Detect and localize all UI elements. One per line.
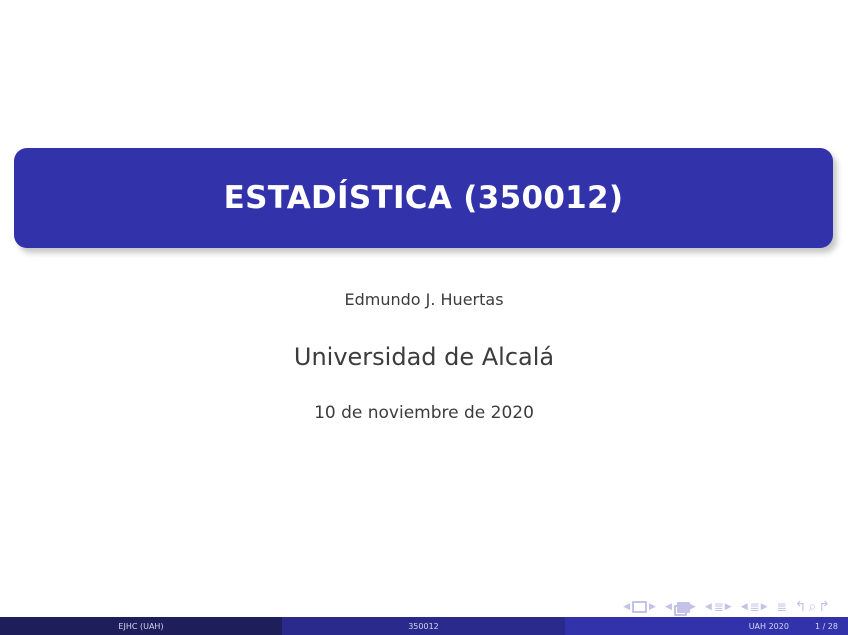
presentation-title: ESTADÍSTICA (350012) [224, 180, 624, 216]
beamer-navigation-symbols[interactable]: ◀ ▶ ◀ ▶ ◀ ≣ ▶ ◀ ≣ ▶ ≣ ↰ ⌕ ↱ [623, 600, 830, 614]
presentation-date: 10 de noviembre de 2020 [0, 371, 848, 423]
subsection-lines-icon[interactable]: ≣ [714, 601, 723, 613]
footer-author-label: EJHC (UAH) [118, 622, 163, 631]
subsection-navigation-group[interactable]: ◀ ≣ ▶ [705, 601, 732, 613]
previous-subsection-arrow-icon[interactable]: ◀ [705, 603, 712, 612]
author-name: Edmundo J. Huertas [0, 278, 848, 309]
history-navigation-group[interactable]: ↰ ⌕ ↱ [795, 600, 830, 614]
forward-icon[interactable]: ↱ [818, 600, 830, 614]
title-block: ESTADÍSTICA (350012) [14, 148, 833, 248]
frame-icon[interactable] [632, 601, 647, 613]
previous-section-arrow-icon[interactable]: ◀ [741, 603, 748, 612]
footer-title-segment: 350012 [282, 617, 565, 635]
search-icon[interactable]: ⌕ [808, 600, 816, 614]
next-frame-arrow-icon[interactable]: ▶ [689, 603, 696, 612]
footer-title-label: 350012 [408, 622, 439, 631]
institute-name: Universidad de Alcalá [0, 309, 848, 371]
title-block-body: ESTADÍSTICA (350012) [14, 148, 833, 248]
footer-institute-segment: UAH 2020 1 / 28 [565, 617, 848, 635]
next-slide-arrow-icon[interactable]: ▶ [649, 603, 656, 612]
next-section-arrow-icon[interactable]: ▶ [761, 603, 768, 612]
section-navigation-group[interactable]: ◀ ≣ ▶ [741, 601, 768, 613]
previous-frame-arrow-icon[interactable]: ◀ [665, 603, 672, 612]
slide-footer: EJHC (UAH) 350012 UAH 2020 1 / 28 [0, 617, 848, 635]
footer-author-segment: EJHC (UAH) [0, 617, 282, 635]
next-subsection-arrow-icon[interactable]: ▶ [725, 603, 732, 612]
slide-navigation-group[interactable]: ◀ ▶ [623, 601, 656, 613]
title-metadata: Edmundo J. Huertas Universidad de Alcalá… [0, 278, 848, 423]
stacked-frames-icon[interactable] [674, 602, 687, 612]
footer-page-number: 1 / 28 [815, 622, 838, 631]
previous-slide-arrow-icon[interactable]: ◀ [623, 603, 630, 612]
frame-navigation-group[interactable]: ◀ ▶ [665, 602, 696, 612]
footer-institute-label: UAH 2020 [749, 622, 789, 631]
section-lines-icon[interactable]: ≣ [750, 601, 759, 613]
presentation-title-slide: ESTADÍSTICA (350012) Edmundo J. Huertas … [0, 0, 848, 635]
document-lines-icon[interactable]: ≣ [777, 601, 786, 613]
back-icon[interactable]: ↰ [795, 600, 807, 614]
